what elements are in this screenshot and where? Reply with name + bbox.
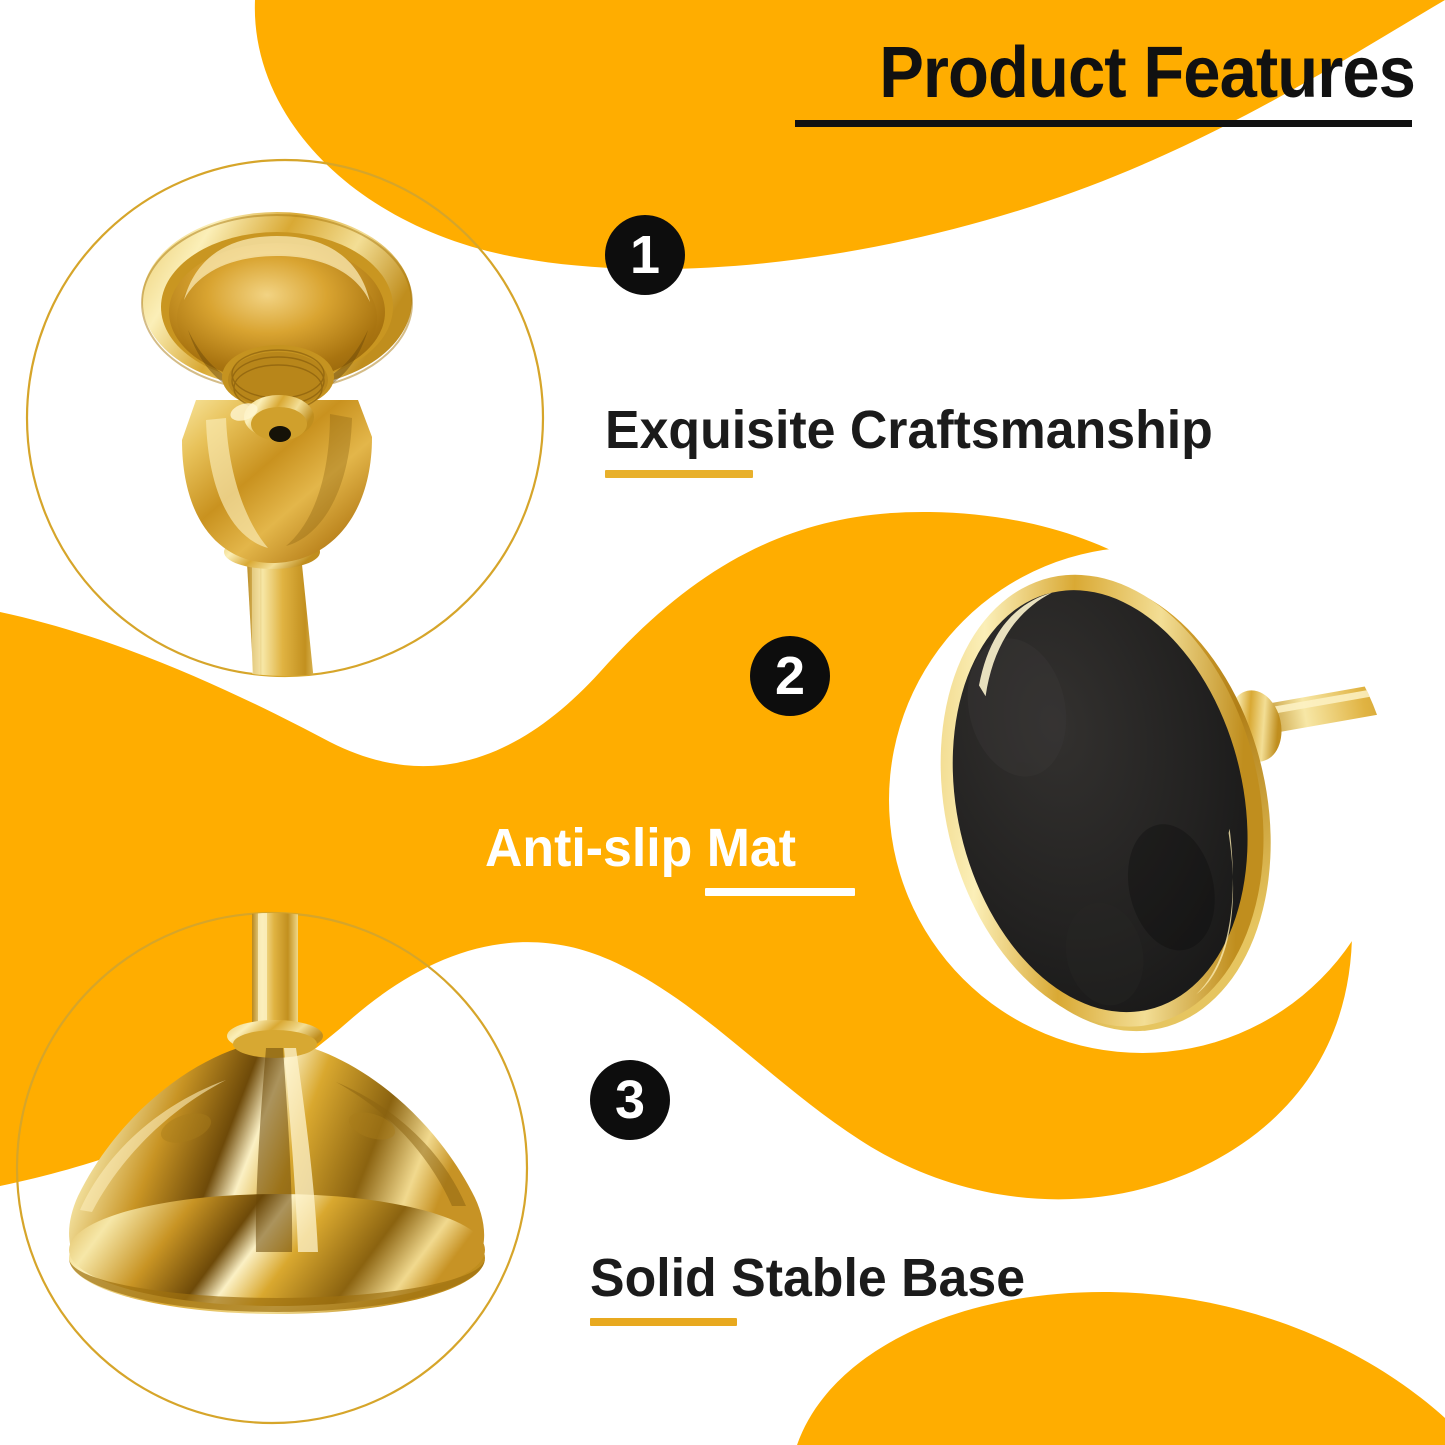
feature-number-badge-3: 3: [590, 1060, 670, 1140]
feature-label-3: Solid Stable Base: [590, 1248, 1025, 1308]
feature-number-badge-2: 2: [750, 636, 830, 716]
feature-number-badge-1: 1: [605, 215, 685, 295]
page-title: Product Features: [838, 34, 1415, 112]
feature-underline-2: [705, 888, 855, 896]
title-block: Product Features: [795, 34, 1415, 127]
feature-underline-3: [590, 1318, 737, 1326]
feature-label-2: Anti-slip Mat: [485, 818, 840, 878]
title-underline: [795, 120, 1412, 127]
black-felt-anti-slip-mat-photo: [898, 541, 1445, 1065]
feature-label-1: Exquisite Craftsmanship: [605, 400, 1213, 460]
product-features-infographic: Product Features 1 Exquisite Craftsmansh…: [0, 0, 1445, 1445]
gold-conical-base-photo: [69, 860, 485, 1314]
feature-item-3: 3 Solid Stable Base: [590, 1060, 1043, 1326]
feature-item-1: 1 Exquisite Craftsmanship: [605, 215, 1238, 478]
gold-candle-cup-photo: [142, 212, 412, 760]
feature-underline-1: [605, 470, 753, 478]
feature-item-2: 2 Anti-slip Mat: [750, 636, 855, 896]
